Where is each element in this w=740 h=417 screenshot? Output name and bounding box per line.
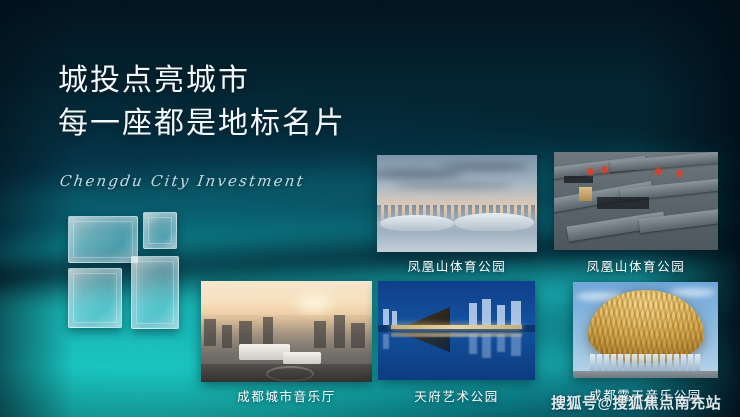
photo-cloud [377, 169, 463, 179]
gallery-caption-1: 凤凰山体育公园 [377, 256, 537, 275]
photo-building [222, 325, 232, 347]
photo-lit-window [579, 187, 592, 201]
photo-building [314, 321, 326, 347]
photo-tower [511, 301, 520, 325]
photo-stadium-dome [380, 215, 454, 231]
gallery-photo-stadium-dusk[interactable] [377, 155, 537, 252]
gallery-caption-3: 成都城市音乐厅 [201, 386, 372, 405]
headline-line-2: 每一座都是地标名片 [58, 103, 346, 146]
photo-red-lantern [656, 168, 661, 175]
gallery-caption-4: 天府艺术公园 [378, 386, 535, 405]
glass-block-bottom-left [68, 268, 122, 328]
photo-sun-glow [290, 287, 338, 319]
photo-tower-reflection [383, 334, 389, 349]
gallery-photo-blue-night-reflection[interactable] [378, 281, 535, 380]
headline-line-1: 城投点亮城市 [58, 64, 250, 97]
photo-red-lantern [602, 166, 607, 173]
photo-foreground [201, 364, 372, 382]
gallery-photo-grey-tiled-roofs[interactable] [554, 152, 718, 250]
photo-cloud [441, 163, 529, 171]
glass-block-top-right [143, 212, 177, 249]
photo-tower [383, 309, 389, 325]
glass-block-top-left [68, 216, 138, 263]
photo-tower-reflection [497, 334, 505, 352]
photo-tower [469, 303, 477, 325]
script-subtitle: Chengdu City Investment [59, 172, 306, 190]
glass-block-bottom-right [131, 256, 179, 329]
gallery-photo-city-sunrise[interactable] [201, 281, 372, 382]
photo-ground [573, 371, 718, 378]
photo-tower-reflection [511, 334, 520, 356]
marketing-slide: 城投点亮城市 每一座都是地标名片 Chengdu City Investment… [0, 0, 740, 417]
gallery-photo-golden-shell-dome[interactable] [573, 282, 718, 378]
photo-concert-hall [283, 352, 321, 364]
photo-foreground [377, 231, 537, 252]
photo-tower-reflection [469, 334, 477, 354]
watermark: 搜狐号@搜狐焦点南充站 [551, 392, 721, 413]
photo-shadow [564, 176, 594, 184]
photo-tower [392, 311, 397, 325]
photo-building [204, 319, 216, 345]
page-title: 城投点亮城市 每一座都是地标名片 [58, 60, 346, 145]
photo-lit-facade [391, 325, 523, 330]
gallery-caption-2: 凤凰山体育公园 [554, 256, 718, 275]
photo-tower-reflection [482, 334, 491, 358]
photo-shadow [597, 197, 649, 209]
photo-red-lantern [677, 170, 682, 177]
photo-building [334, 315, 344, 347]
photo-tower [482, 299, 491, 325]
photo-glass-base [590, 354, 700, 372]
photo-tower [497, 305, 505, 325]
photo-stadium-dome [454, 213, 534, 231]
photo-building [351, 323, 365, 347]
